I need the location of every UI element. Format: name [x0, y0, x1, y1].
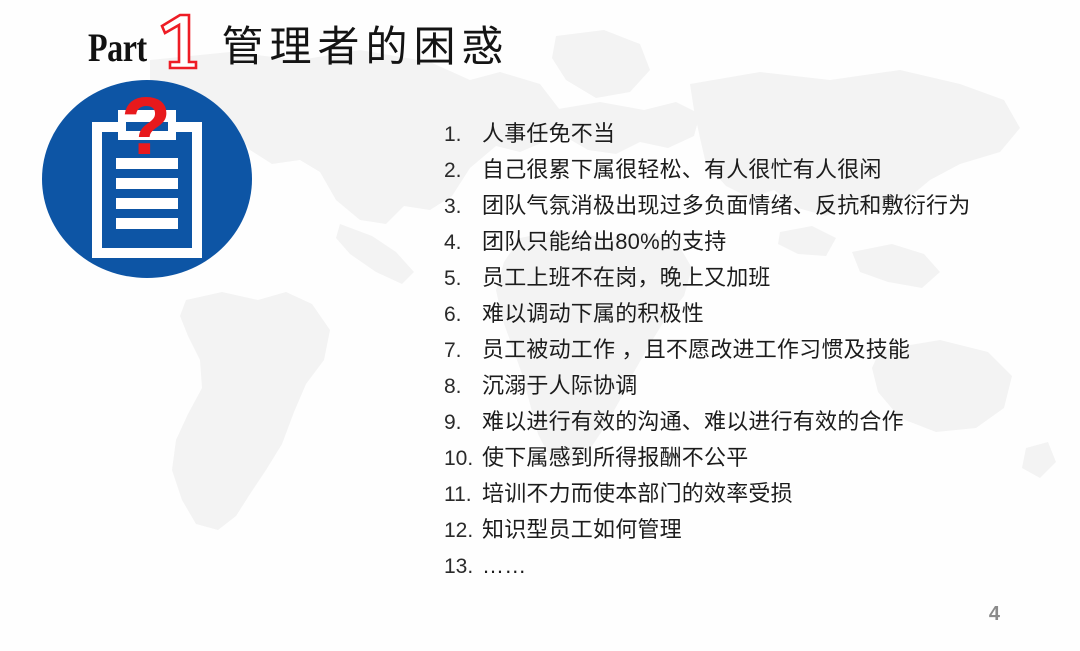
- list-item: 10. 使下属感到所得报酬不公平: [444, 440, 1064, 476]
- list-item-label: ……: [482, 548, 526, 584]
- list-item: 6. 难以调动下属的积极性: [444, 296, 1064, 332]
- list-item-label: 沉溺于人际协调: [482, 368, 637, 404]
- list-item-number: 6.: [444, 297, 482, 333]
- list-item: 13. ……: [444, 548, 1064, 584]
- list-item: 3. 团队气氛消极出现过多负面情绪、反抗和敷衍行为: [444, 188, 1064, 224]
- list-item-number: 13.: [444, 549, 482, 585]
- list-item-label: 团队只能给出80%的支持: [482, 224, 726, 260]
- list-item: 12. 知识型员工如何管理: [444, 512, 1064, 548]
- clipboard-question-icon: ?: [42, 80, 252, 280]
- list-item-label: 员工被动工作 ，且不愿改进工作习惯及技能: [482, 332, 910, 368]
- list-item-number: 7.: [444, 333, 482, 369]
- slide-canvas: Part 1 管理者的困惑 ?: [0, 0, 1080, 651]
- list-item-number: 1.: [444, 117, 482, 153]
- page-title: 管理者的困惑: [222, 25, 510, 71]
- list-item-label: 团队气氛消极出现过多负面情绪、反抗和敷衍行为: [482, 188, 970, 224]
- list-item: 2. 自己很累下属很轻松、有人很忙有人很闲: [444, 152, 1064, 188]
- list-item-label: 使下属感到所得报酬不公平: [482, 440, 748, 476]
- list-item: 9. 难以进行有效的沟通、难以进行有效的合作: [444, 404, 1064, 440]
- clipboard-line: [116, 178, 178, 189]
- list-item-number: 2.: [444, 153, 482, 189]
- part-number-graphic: 1: [156, 12, 200, 70]
- list-item: 1. 人事任免不当: [444, 116, 1064, 152]
- list-item-number: 3.: [444, 189, 482, 225]
- list-item-label: 难以调动下属的积极性: [482, 296, 704, 332]
- list-item: 8. 沉溺于人际协调: [444, 368, 1064, 404]
- list-item-number: 11.: [444, 477, 482, 513]
- clipboard-line: [116, 218, 178, 229]
- list-item: 7. 员工被动工作 ，且不愿改进工作习惯及技能: [444, 332, 1064, 368]
- list-item-number: 12.: [444, 513, 482, 549]
- question-mark-icon: ?: [121, 81, 171, 172]
- list-item: 5. 员工上班不在岗，晚上又加班: [444, 260, 1064, 296]
- slide-title: Part 1 管理者的困惑: [88, 8, 510, 74]
- problem-list: 1. 人事任免不当 2. 自己很累下属很轻松、有人很忙有人很闲 3. 团队气氛消…: [444, 116, 1064, 584]
- list-item-number: 10.: [444, 441, 482, 477]
- list-item-number: 9.: [444, 405, 482, 441]
- part-label: Part: [88, 28, 147, 68]
- list-item-number: 5.: [444, 261, 482, 297]
- list-item-label: 难以进行有效的沟通、难以进行有效的合作: [482, 404, 904, 440]
- list-item-label: 人事任免不当: [482, 116, 615, 152]
- list-item-label: 员工上班不在岗，晚上又加班: [482, 260, 771, 296]
- list-item: 11. 培训不力而使本部门的效率受损: [444, 476, 1064, 512]
- list-item-label: 培训不力而使本部门的效率受损: [482, 476, 793, 512]
- list-item: 4. 团队只能给出80%的支持: [444, 224, 1064, 260]
- list-item-label: 自己很累下属很轻松、有人很忙有人很闲: [482, 152, 882, 188]
- page-number: 4: [989, 603, 1000, 626]
- clipboard-line: [116, 198, 178, 209]
- list-item-number: 4.: [444, 225, 482, 261]
- list-item-label: 知识型员工如何管理: [482, 512, 682, 548]
- list-item-number: 8.: [444, 369, 482, 405]
